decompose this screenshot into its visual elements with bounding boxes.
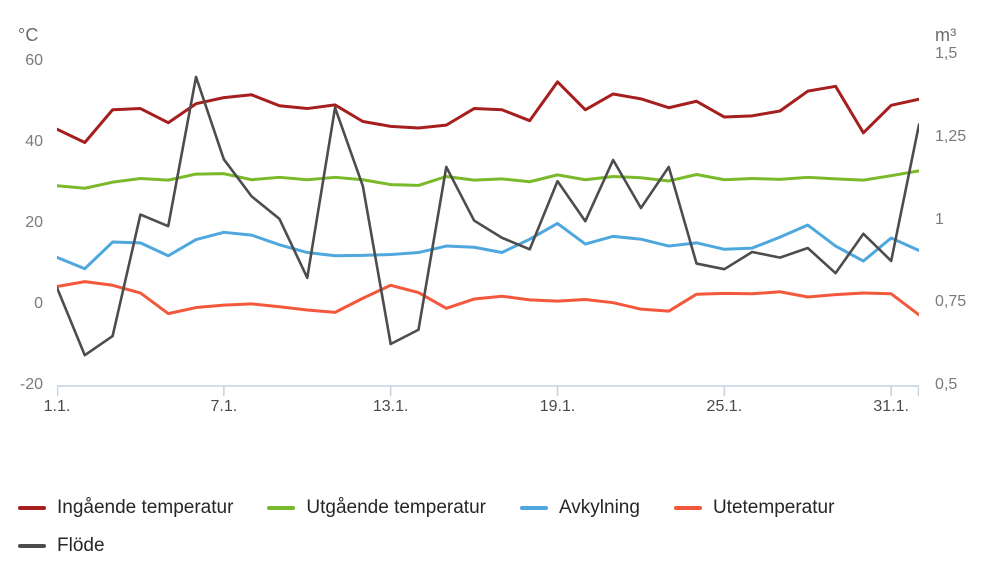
left-axis-tick-neg20: -20	[20, 376, 43, 394]
x-axis-tick-11: 1.1.	[44, 398, 71, 416]
right-axis-tick-1-5: 1,5	[935, 45, 957, 63]
legend-swatch-icon	[18, 544, 46, 548]
legend-item-label: Flöde	[57, 535, 105, 557]
left-axis-tick-20: 20	[25, 214, 43, 232]
legend-item-label: Utgående temperatur	[306, 497, 486, 519]
x-axis-tick-191: 19.1.	[540, 398, 576, 416]
left-axis-tick-60: 60	[25, 52, 43, 70]
legend-swatch-icon	[267, 506, 295, 510]
series-line-utgående-temperatur	[57, 171, 919, 188]
plot-area	[57, 22, 919, 386]
legend-swatch-icon	[520, 506, 548, 510]
legend-swatch-icon	[674, 506, 702, 510]
legend-swatch-icon	[18, 506, 46, 510]
x-axis-tick-131: 13.1.	[373, 398, 409, 416]
legend-item-flöde[interactable]: Flöde	[18, 532, 105, 560]
right-axis-tick-0-5: 0,5	[935, 376, 957, 394]
series-line-flöde	[57, 77, 919, 355]
chart-container: °C m³ 6040200-20 1,51,2510,750,5 1.1.7.1…	[0, 0, 1006, 583]
chart-legend: Ingående temperaturUtgående temperaturAv…	[18, 494, 978, 570]
left-axis-unit-label: °C	[18, 25, 39, 46]
x-axis-tick-311: 31.1.	[873, 398, 909, 416]
legend-item-label: Utetemperatur	[713, 497, 834, 519]
right-axis-unit-label: m³	[935, 25, 956, 46]
left-axis-tick-40: 40	[25, 133, 43, 151]
right-axis-tick-0-75: 0,75	[935, 293, 966, 311]
legend-item-avkylning[interactable]: Avkylning	[520, 494, 640, 522]
legend-item-label: Avkylning	[559, 497, 640, 519]
legend-item-label: Ingående temperatur	[57, 497, 233, 519]
legend-item-utgående-temperatur[interactable]: Utgående temperatur	[267, 494, 486, 522]
right-axis-tick-1: 1	[935, 211, 944, 229]
x-axis-line	[58, 386, 919, 396]
x-axis-tick-251: 25.1.	[707, 398, 743, 416]
right-axis-tick-1-25: 1,25	[935, 128, 966, 146]
x-axis-tick-71: 7.1.	[210, 398, 237, 416]
series-line-utetemperatur	[57, 282, 919, 315]
left-axis-tick-0: 0	[34, 295, 43, 313]
legend-item-ingående-temperatur[interactable]: Ingående temperatur	[18, 494, 233, 522]
legend-item-utetemperatur[interactable]: Utetemperatur	[674, 494, 834, 522]
chart-svg	[57, 22, 919, 400]
